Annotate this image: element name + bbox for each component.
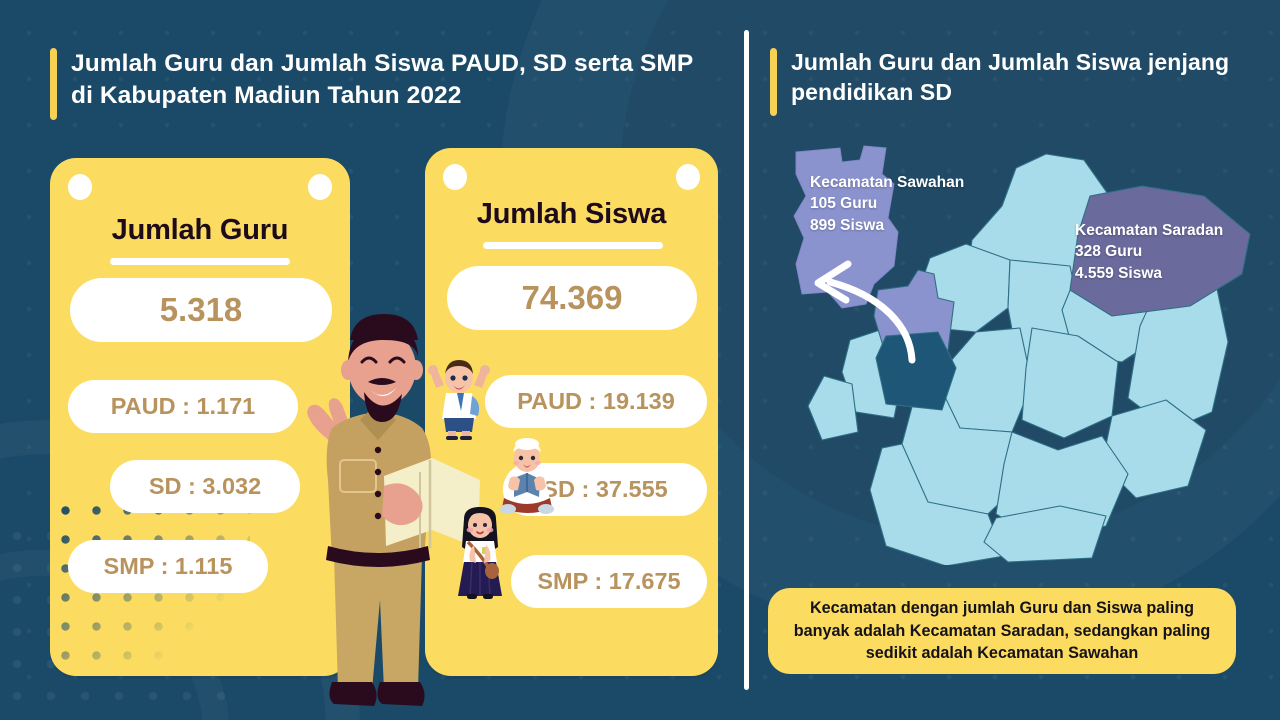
siswa-total-value: 74.369 (447, 266, 697, 330)
panel-divider (744, 30, 749, 690)
guru-smp-row: SMP : 1.115 (68, 540, 268, 593)
card-punch-hole-right (308, 174, 332, 200)
student-girl-illustration-icon (450, 505, 510, 603)
left-panel-header: Jumlah Guru dan Jumlah Siswa PAUD, SD se… (50, 48, 710, 120)
map-label-sawahan: Kecamatan Sawahan 105 Guru 899 Siswa (810, 172, 964, 236)
card-title-guru: Jumlah Guru (50, 214, 350, 247)
infographic-canvas: Jumlah Guru dan Jumlah Siswa PAUD, SD se… (0, 0, 1280, 720)
map-label-saradan-guru: 328 Guru (1075, 241, 1223, 262)
map-label-sawahan-guru: 105 Guru (810, 193, 964, 214)
header-accent-bar (770, 48, 777, 116)
card-title-rule (110, 258, 290, 265)
map-district (876, 332, 956, 410)
card-punch-hole-left (443, 164, 467, 190)
student-cheering-illustration-icon (428, 358, 490, 440)
siswa-paud-row: PAUD : 19.139 (485, 375, 707, 428)
map-label-saradan-name: Kecamatan Saradan (1075, 220, 1223, 241)
left-panel-title: Jumlah Guru dan Jumlah Siswa PAUD, SD se… (71, 48, 710, 112)
map-footnote-callout: Kecamatan dengan jumlah Guru dan Siswa p… (768, 588, 1236, 674)
guru-paud-row: PAUD : 1.171 (68, 380, 298, 433)
card-title-rule (483, 242, 663, 249)
map-label-sawahan-name: Kecamatan Sawahan (810, 172, 964, 193)
map-label-sawahan-siswa: 899 Siswa (810, 215, 964, 236)
card-title-siswa: Jumlah Siswa (425, 198, 718, 231)
right-panel-title: Jumlah Guru dan Jumlah Siswa jenjang pen… (791, 48, 1240, 108)
card-punch-hole-left (68, 174, 92, 200)
right-panel-header: Jumlah Guru dan Jumlah Siswa jenjang pen… (770, 48, 1240, 116)
map-footnote-text: Kecamatan dengan jumlah Guru dan Siswa p… (784, 597, 1220, 664)
map-label-saradan-siswa: 4.559 Siswa (1075, 263, 1223, 284)
card-punch-hole-right (676, 164, 700, 190)
map-district (808, 376, 858, 440)
map-label-saradan: Kecamatan Saradan 328 Guru 4.559 Siswa (1075, 220, 1223, 284)
siswa-smp-row: SMP : 17.675 (511, 555, 707, 608)
header-accent-bar (50, 48, 57, 120)
